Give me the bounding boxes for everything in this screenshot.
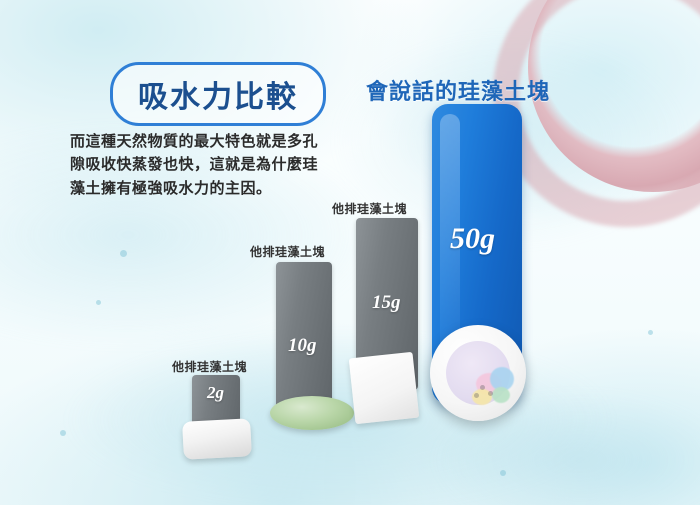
coaster-blob-green	[492, 387, 510, 403]
coaster-dot	[488, 391, 493, 396]
chart-subtitle: 而這種天然物質的最大特色就是多孔隙吸收快蒸發也快，這就是為什麼珪藻土擁有極強吸水…	[70, 130, 320, 200]
bar-label-0: 他排珪藻土塊	[172, 358, 247, 375]
speck-dot	[96, 300, 101, 305]
infographic-canvas: 吸水力比較 而這種天然物質的最大特色就是多孔隙吸收快蒸發也快，這就是為什麼珪藻土…	[0, 0, 700, 505]
coaster-dot	[480, 385, 485, 390]
speck-dot	[648, 330, 653, 335]
bar-value-1: 10g	[288, 335, 317, 357]
product-white-pad	[349, 352, 420, 424]
product-green-oval	[270, 396, 354, 430]
bar-value-2: 15g	[372, 292, 401, 314]
coaster-dot	[474, 393, 479, 398]
product-diatomite-coaster	[430, 325, 526, 421]
bar-label-2: 他排珪藻土塊	[332, 200, 407, 217]
chart-title-pill: 吸水力比較	[110, 62, 326, 126]
page-title: 吸水力比較	[138, 72, 298, 116]
bar-value-3: 50g	[450, 222, 495, 256]
speck-dot	[60, 430, 66, 436]
bar-label-1: 他排珪藻土塊	[250, 243, 325, 260]
hero-bar-label: 會說話的珪藻土塊	[366, 74, 550, 106]
speck-dot	[500, 470, 506, 476]
speck-dot	[120, 250, 127, 257]
bar-value-0: 2g	[207, 383, 224, 403]
decorative-pink-ring	[493, 0, 700, 227]
coaster-inner-circle	[446, 341, 510, 405]
product-white-block	[182, 418, 252, 460]
